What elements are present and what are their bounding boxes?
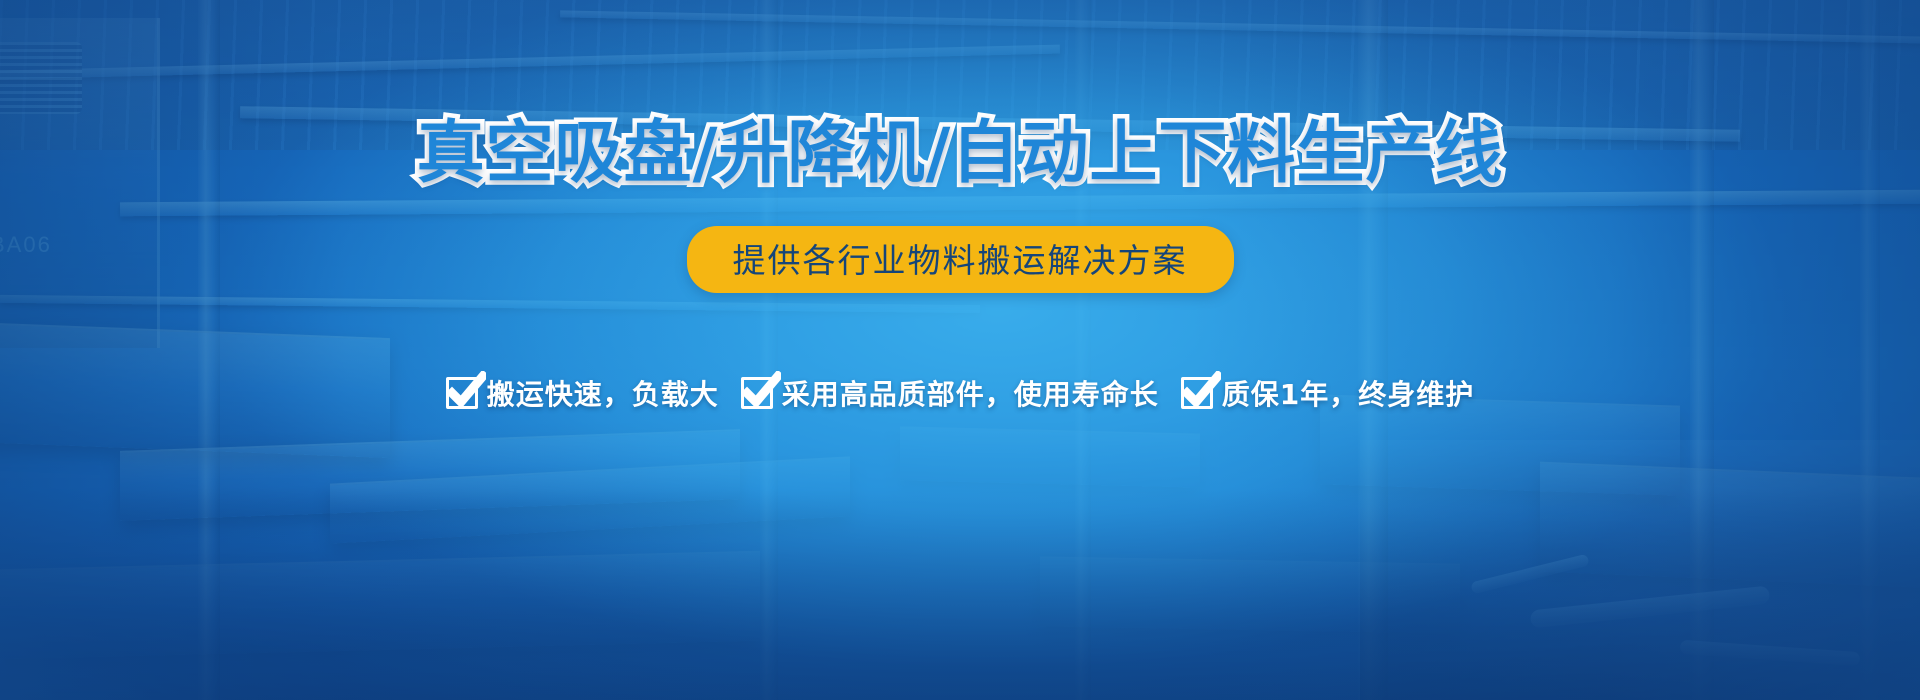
feature-label: 搬运快速，负载大	[487, 373, 719, 413]
feature-item: 采用高品质部件，使用寿命长	[741, 373, 1159, 413]
feature-label: 质保1年，终身维护	[1222, 373, 1474, 413]
feature-item: 质保1年，终身维护	[1181, 373, 1474, 413]
hero-banner: BA06 真空吸盘/升降机/自动上下料生产线 提供各行业物料搬运解决方案	[0, 0, 1920, 700]
checkmark-icon	[446, 377, 478, 409]
feature-list: 搬运快速，负载大 采用高品质部件，使用寿命长 质保1年，终身维护	[446, 373, 1475, 413]
checkmark-icon	[1181, 377, 1213, 409]
banner-content: 真空吸盘/升降机/自动上下料生产线 提供各行业物料搬运解决方案 搬运快速，负载大…	[0, 0, 1920, 700]
feature-item: 搬运快速，负载大	[446, 373, 719, 413]
banner-subtitle-badge: 提供各行业物料搬运解决方案	[687, 226, 1234, 293]
feature-label: 采用高品质部件，使用寿命长	[782, 373, 1159, 413]
checkmark-icon	[741, 377, 773, 409]
banner-headline: 真空吸盘/升降机/自动上下料生产线	[417, 120, 1504, 188]
